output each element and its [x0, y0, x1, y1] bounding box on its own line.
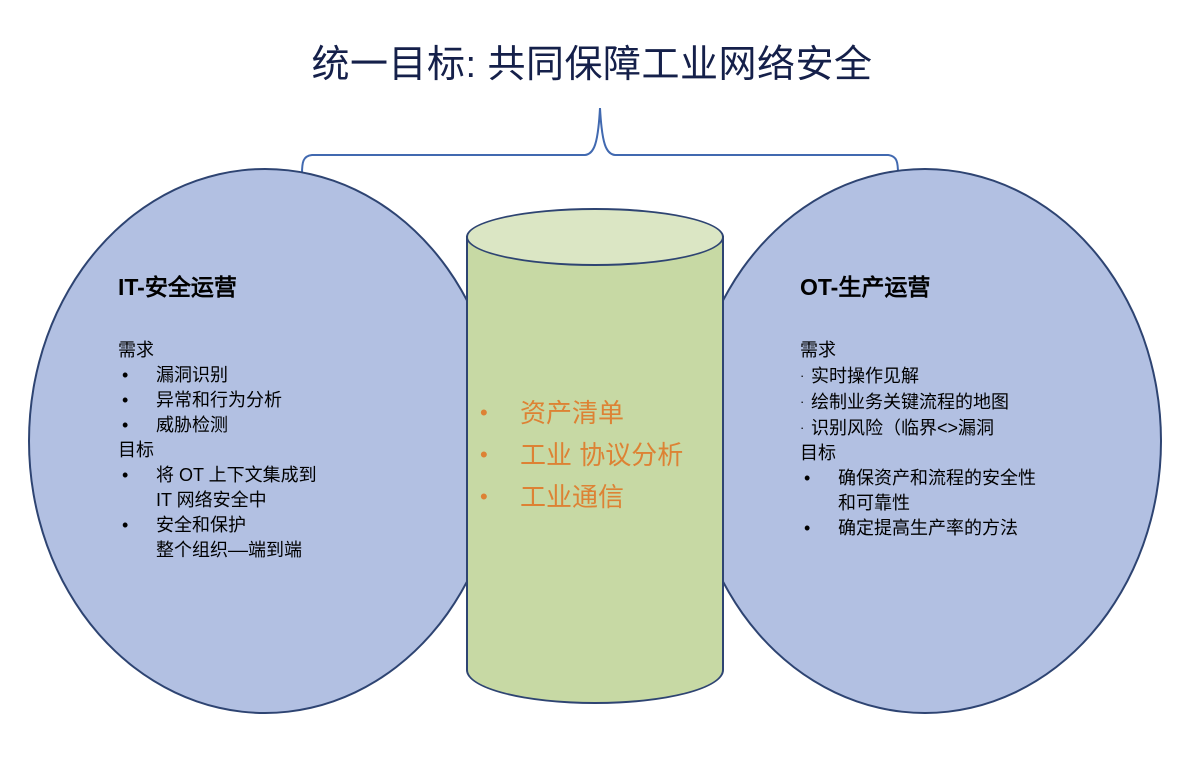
list-item-label-line2: 整个组织––端到端	[156, 538, 418, 563]
list-item-continuation: IT 网络安全中	[118, 488, 418, 513]
list-item-label: 实时操作见解	[811, 363, 1130, 389]
list-item: • 漏洞识别	[118, 363, 418, 388]
list-item-label: 工业通信	[520, 476, 720, 518]
bullet-glyph: •	[472, 434, 520, 476]
list-item-label: 异常和行为分析	[156, 388, 418, 413]
list-item: • 确保资产和流程的安全性	[800, 466, 1130, 491]
list-item-label: 识别风险（临界<>漏洞	[811, 415, 1130, 441]
list-item-label: 将 OT 上下文集成到	[156, 463, 418, 488]
bullet-glyph: •	[118, 513, 156, 538]
list-item-label-line2: IT 网络安全中	[156, 488, 418, 513]
unifying-bracket	[290, 100, 910, 180]
bullet-glyph: •	[800, 466, 838, 491]
bullet-glyph: •	[472, 392, 520, 434]
bullet-glyph: •	[118, 388, 156, 413]
list-item: · 绘制业务关键流程的地图	[800, 389, 1130, 415]
cylinder-content: • 资产清单 • 工业 协议分析 • 工业通信	[472, 392, 720, 518]
list-item-label: 确保资产和流程的安全性	[838, 466, 1130, 491]
ot-requirements-label: 需求	[800, 338, 1130, 363]
bullet-spacer	[118, 538, 156, 563]
list-item-label-line2: 和可靠性	[838, 491, 1130, 516]
list-item-label: 确定提高生产率的方法	[838, 516, 1130, 541]
bullet-glyph: •	[118, 413, 156, 438]
bullet-glyph: •	[118, 463, 156, 488]
it-goals-label: 目标	[118, 438, 418, 463]
list-item: • 工业通信	[472, 476, 720, 518]
bullet-glyph: •	[472, 476, 520, 518]
bullet-glyph: ·	[800, 415, 811, 441]
bullet-glyph: •	[800, 516, 838, 541]
list-item-label: 工业 协议分析	[520, 434, 720, 476]
list-item: • 资产清单	[472, 392, 720, 434]
list-item-label: 绘制业务关键流程的地图	[811, 389, 1130, 415]
page-title: 统一目标: 共同保障工业网络安全	[0, 33, 1184, 88]
list-item-label: 资产清单	[520, 392, 720, 434]
ot-goals-label: 目标	[800, 441, 1130, 466]
bullet-glyph: ·	[800, 389, 811, 415]
list-item-label: 威胁检测	[156, 413, 418, 438]
list-item-continuation: 整个组织––端到端	[118, 538, 418, 563]
list-item-label: 安全和保护	[156, 513, 418, 538]
list-item: • 确定提高生产率的方法	[800, 516, 1130, 541]
it-requirements-label: 需求	[118, 338, 418, 363]
bullet-glyph: •	[118, 363, 156, 388]
list-item: • 异常和行为分析	[118, 388, 418, 413]
it-panel-heading: IT-安全运营	[118, 268, 418, 302]
bullet-spacer	[800, 491, 838, 516]
list-item: · 识别风险（临界<>漏洞	[800, 415, 1130, 441]
bullet-glyph: ·	[800, 363, 811, 389]
list-item-label: 漏洞识别	[156, 363, 418, 388]
cylinder-top-ellipse	[466, 208, 724, 266]
list-item: • 威胁检测	[118, 413, 418, 438]
list-item: • 工业 协议分析	[472, 434, 720, 476]
ot-panel-content: OT-生产运营 需求 · 实时操作见解 · 绘制业务关键流程的地图 · 识别风险…	[800, 268, 1130, 541]
list-item-continuation: 和可靠性	[800, 491, 1130, 516]
list-item: • 安全和保护	[118, 513, 418, 538]
list-item: · 实时操作见解	[800, 363, 1130, 389]
list-item: • 将 OT 上下文集成到	[118, 463, 418, 488]
bullet-spacer	[118, 488, 156, 513]
ot-panel-heading: OT-生产运营	[800, 268, 1130, 302]
it-panel-content: IT-安全运营 需求 • 漏洞识别 • 异常和行为分析 • 威胁检测 目标 • …	[118, 268, 418, 563]
